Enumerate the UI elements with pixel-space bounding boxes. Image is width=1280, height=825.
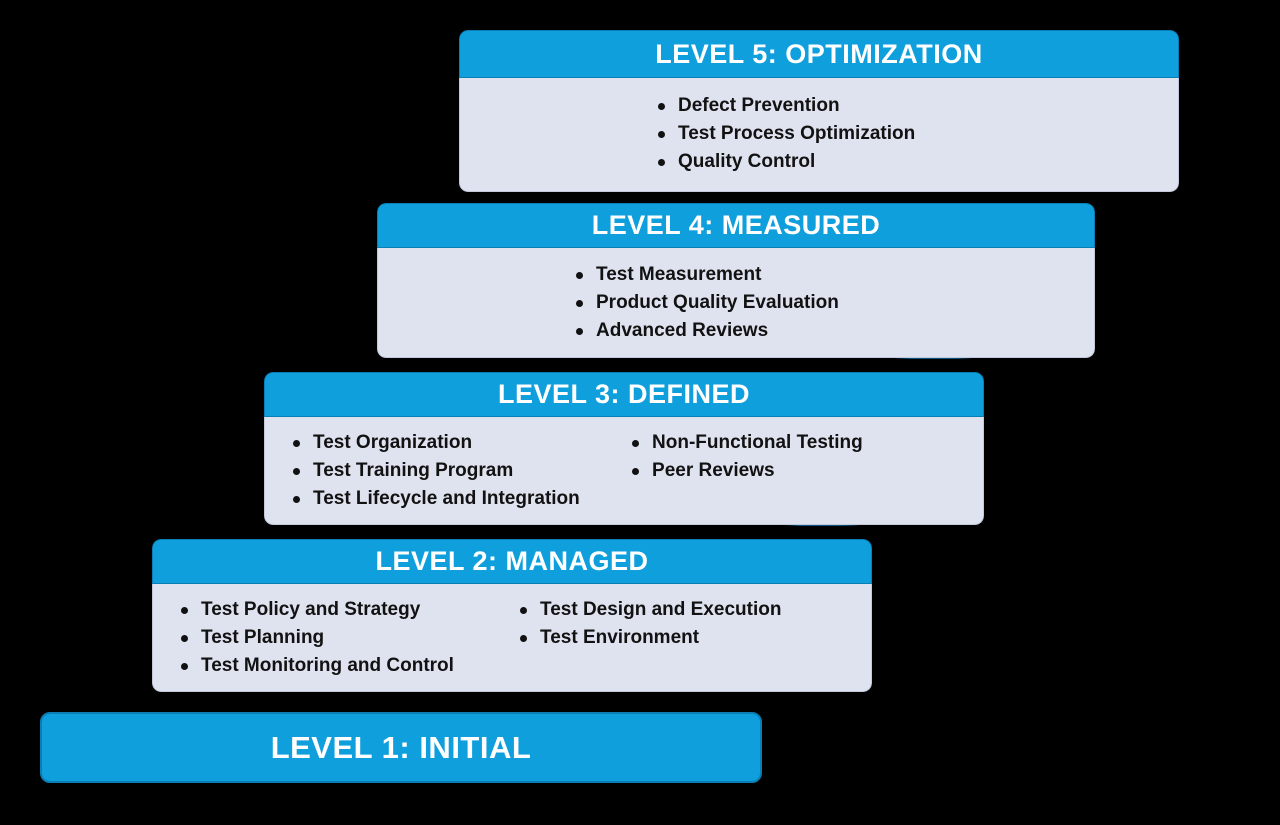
- list-item: Test Process Optimization: [656, 120, 1178, 148]
- bullet-icon: [520, 607, 527, 614]
- level-2-title: LEVEL 2: MANAGED: [375, 546, 648, 577]
- level-5-title: LEVEL 5: OPTIMIZATION: [655, 39, 983, 70]
- item-label: Defect Prevention: [678, 95, 840, 116]
- level-5-body: Defect Prevention Test Process Optimizat…: [459, 78, 1179, 192]
- bullet-icon: [293, 440, 300, 447]
- list-item: Test Training Program: [291, 457, 630, 485]
- bullet-icon: [632, 468, 639, 475]
- level-4-card: LEVEL 4: MEASURED Test Measurement Produ…: [377, 203, 1095, 358]
- level-3-header: LEVEL 3: DEFINED: [264, 372, 984, 417]
- item-label: Peer Reviews: [652, 460, 775, 481]
- level-2-header: LEVEL 2: MANAGED: [152, 539, 872, 584]
- bullet-icon: [181, 663, 188, 670]
- level-4-item-list: Test Measurement Product Quality Evaluat…: [574, 261, 1094, 345]
- level-3-step: LEVEL 3: DEFINED Test Organization Test …: [264, 372, 984, 525]
- item-label: Quality Control: [678, 151, 815, 172]
- item-label: Test Environment: [540, 627, 699, 648]
- level-2-step: LEVEL 2: MANAGED Test Policy and Strateg…: [152, 539, 872, 692]
- level-2-column-2: Test Design and Execution Test Environme…: [518, 584, 871, 691]
- level-2-item-list-1: Test Policy and Strategy Test Planning T…: [179, 596, 518, 680]
- item-label: Test Process Optimization: [678, 123, 915, 144]
- bullet-icon: [293, 468, 300, 475]
- item-label: Advanced Reviews: [596, 320, 768, 341]
- level-1-title: LEVEL 1: INITIAL: [271, 730, 532, 766]
- level-3-body: Test Organization Test Training Program …: [264, 417, 984, 525]
- level-5-item-list: Defect Prevention Test Process Optimizat…: [656, 92, 1178, 176]
- item-label: Test Training Program: [313, 460, 513, 481]
- item-label: Product Quality Evaluation: [596, 292, 839, 313]
- level-3-title: LEVEL 3: DEFINED: [498, 379, 750, 410]
- item-label: Non-Functional Testing: [652, 432, 863, 453]
- level-2-item-list-2: Test Design and Execution Test Environme…: [518, 596, 871, 652]
- level-4-body: Test Measurement Product Quality Evaluat…: [377, 248, 1095, 358]
- level-3-column-2: Non-Functional Testing Peer Reviews: [630, 417, 983, 524]
- item-label: Test Monitoring and Control: [201, 655, 454, 676]
- bullet-icon: [576, 300, 583, 307]
- list-item: Test Lifecycle and Integration: [291, 485, 630, 513]
- bullet-icon: [181, 607, 188, 614]
- list-item: Test Environment: [518, 624, 871, 652]
- item-label: Test Design and Execution: [540, 599, 781, 620]
- bullet-icon: [658, 131, 665, 138]
- bullet-icon: [632, 440, 639, 447]
- bullet-icon: [658, 159, 665, 166]
- tmmi-maturity-diagram: LEVEL 5: OPTIMIZATION Defect Prevention …: [0, 0, 1280, 825]
- bullet-icon: [181, 635, 188, 642]
- list-item: Peer Reviews: [630, 457, 983, 485]
- level-5-card: LEVEL 5: OPTIMIZATION Defect Prevention …: [459, 30, 1179, 192]
- bullet-icon: [576, 328, 583, 335]
- item-label: Test Organization: [313, 432, 472, 453]
- item-label: Test Policy and Strategy: [201, 599, 420, 620]
- level-3-item-list-1: Test Organization Test Training Program …: [291, 429, 630, 513]
- list-item: Product Quality Evaluation: [574, 289, 1094, 317]
- list-item: Non-Functional Testing: [630, 429, 983, 457]
- level-4-header: LEVEL 4: MEASURED: [377, 203, 1095, 248]
- level-5-step: LEVEL 5: OPTIMIZATION Defect Prevention …: [459, 30, 1179, 192]
- list-item: Advanced Reviews: [574, 317, 1094, 345]
- level-4-column-1: Test Measurement Product Quality Evaluat…: [378, 248, 1094, 357]
- item-label: Test Lifecycle and Integration: [313, 488, 580, 509]
- list-item: Test Organization: [291, 429, 630, 457]
- list-item: Test Measurement: [574, 261, 1094, 289]
- level-1-bar: LEVEL 1: INITIAL: [40, 712, 762, 783]
- level-3-card: LEVEL 3: DEFINED Test Organization Test …: [264, 372, 984, 525]
- item-label: Test Measurement: [596, 264, 761, 285]
- list-item: Test Policy and Strategy: [179, 596, 518, 624]
- level-5-header: LEVEL 5: OPTIMIZATION: [459, 30, 1179, 78]
- list-item: Test Monitoring and Control: [179, 652, 518, 680]
- bullet-icon: [658, 103, 665, 110]
- list-item: Defect Prevention: [656, 92, 1178, 120]
- level-2-card: LEVEL 2: MANAGED Test Policy and Strateg…: [152, 539, 872, 692]
- level-2-column-1: Test Policy and Strategy Test Planning T…: [153, 584, 518, 691]
- level-3-column-1: Test Organization Test Training Program …: [265, 417, 630, 524]
- item-label: Test Planning: [201, 627, 324, 648]
- list-item: Quality Control: [656, 148, 1178, 176]
- level-3-item-list-2: Non-Functional Testing Peer Reviews: [630, 429, 983, 485]
- list-item: Test Planning: [179, 624, 518, 652]
- level-4-title: LEVEL 4: MEASURED: [592, 210, 881, 241]
- level-2-body: Test Policy and Strategy Test Planning T…: [152, 584, 872, 692]
- bullet-icon: [576, 272, 583, 279]
- level-5-column-1: Defect Prevention Test Process Optimizat…: [460, 78, 1178, 191]
- bullet-icon: [293, 496, 300, 503]
- level-4-step: LEVEL 4: MEASURED Test Measurement Produ…: [377, 203, 1095, 358]
- list-item: Test Design and Execution: [518, 596, 871, 624]
- bullet-icon: [520, 635, 527, 642]
